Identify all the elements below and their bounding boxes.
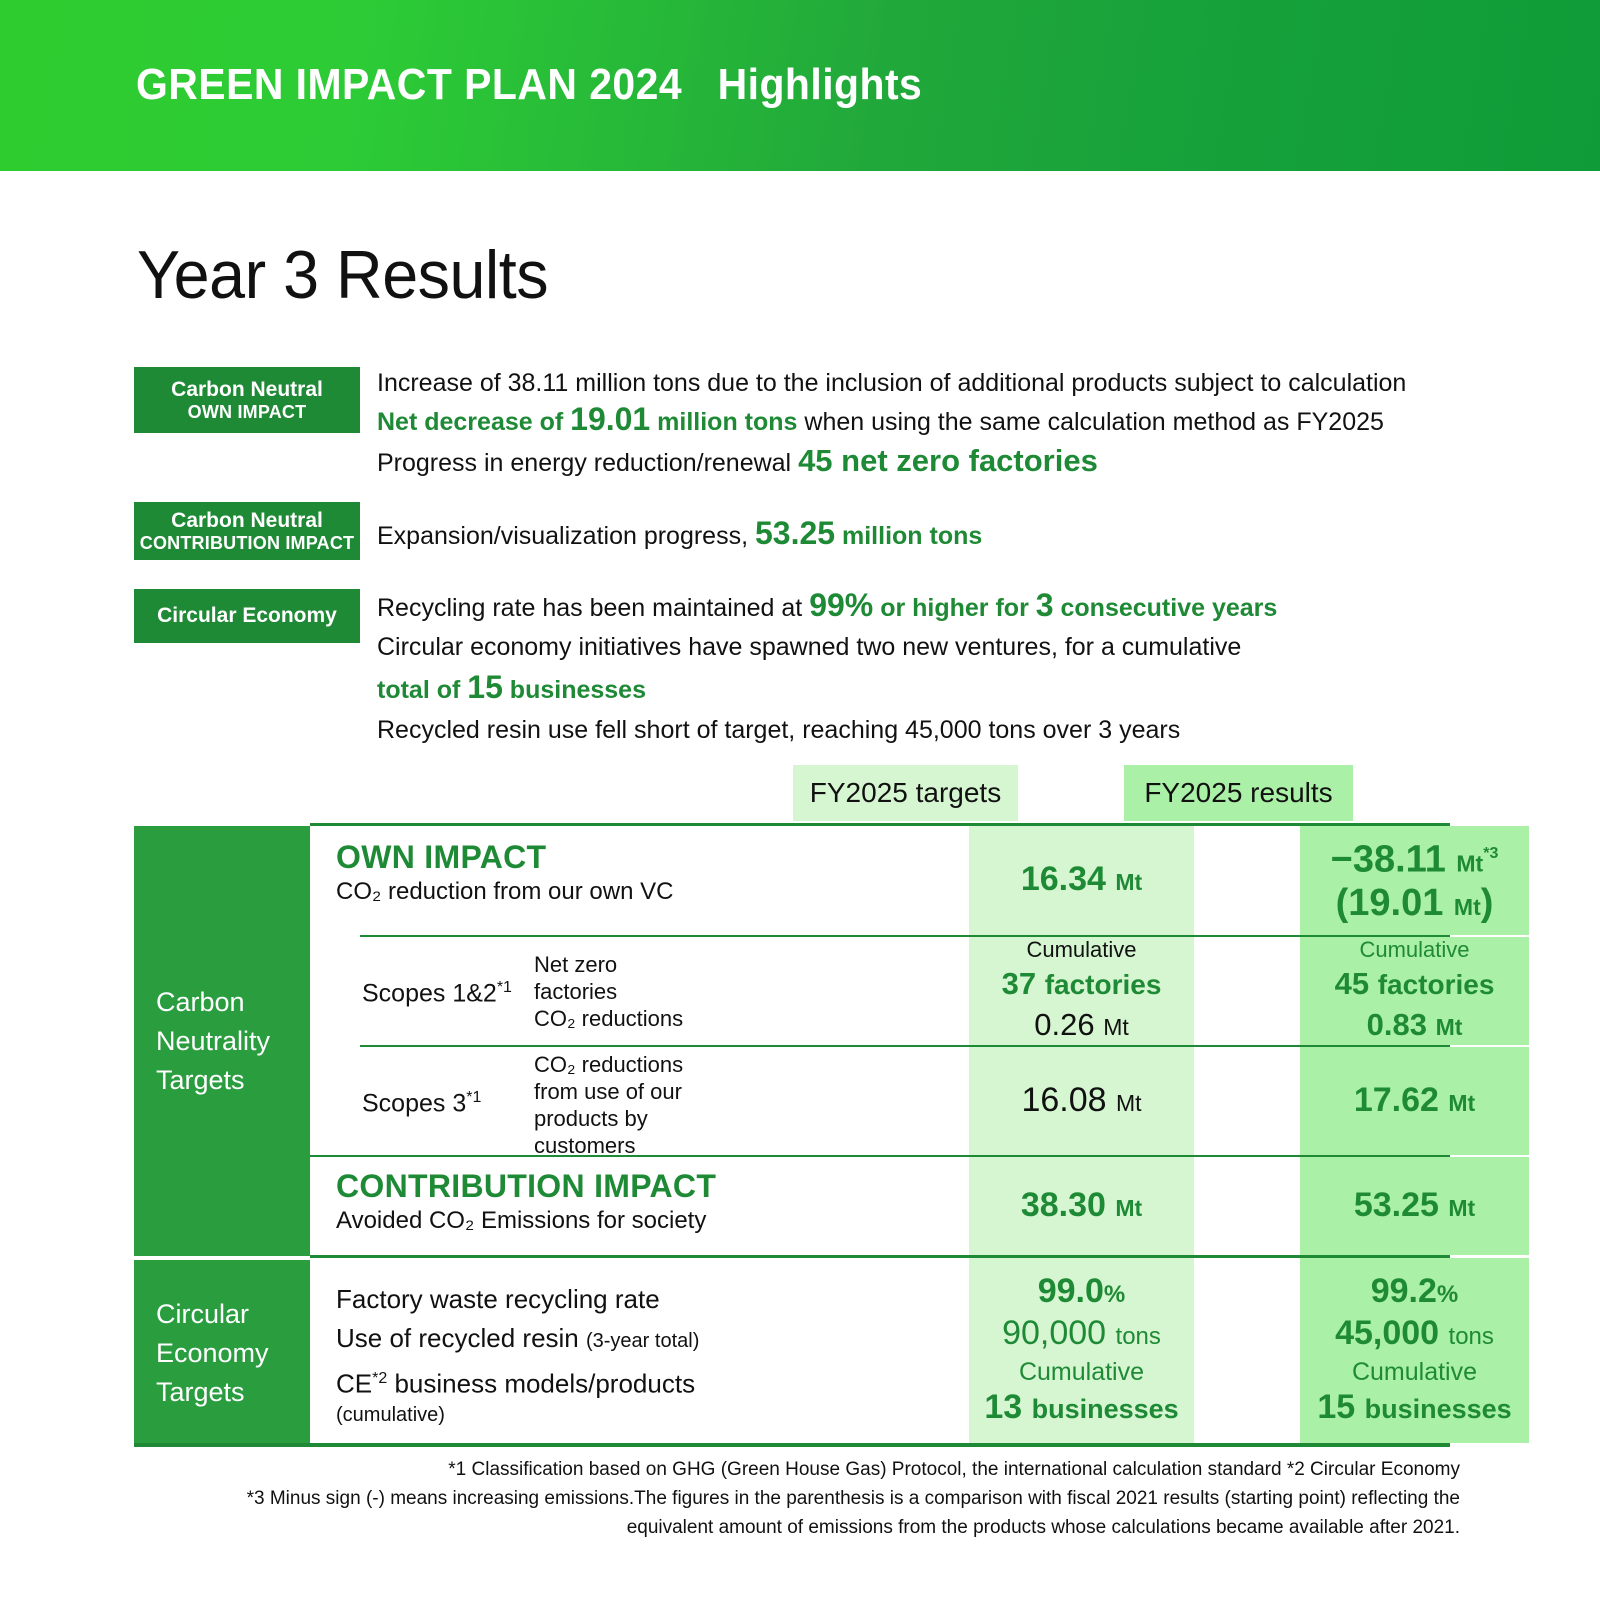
scope-description: Net zero factories CO₂ reductions xyxy=(534,951,683,1032)
value-unit: % xyxy=(1104,1281,1125,1308)
footnote-line-1: *1 Classification based on GHG (Green Ho… xyxy=(140,1455,1460,1484)
highlight-segment: Circular economy initiatives have spawne… xyxy=(377,633,1241,661)
highlight-segment: Recycled resin use fell short of target,… xyxy=(377,716,1180,744)
highlight-segment-number: 3 xyxy=(1036,587,1054,623)
row-label-cell: Scopes 1&2*1 Net zero factories CO₂ redu… xyxy=(310,937,793,1045)
cell-result-circular-economy: 99.2% 45,000 tons Cumulative 15 business… xyxy=(1300,1258,1529,1443)
value-number: 90,000 xyxy=(1002,1314,1106,1352)
page-header-banner: GREEN IMPACT PLAN 2024 Highlights xyxy=(0,0,1600,171)
highlight-segment: total of xyxy=(377,676,467,704)
tag-label-line1: Carbon Neutral xyxy=(171,378,323,402)
value-unit: Mt xyxy=(1448,1195,1475,1221)
category-label: Carbon Neutrality Targets xyxy=(156,983,270,1100)
footnote-line-2: *3 Minus sign (-) means increasing emiss… xyxy=(140,1484,1460,1513)
highlight-segment: Progress in energy reduction/renewal xyxy=(377,449,798,477)
highlight-line: Net decrease of 19.01 million tons when … xyxy=(377,401,1406,440)
value-unit: businesses xyxy=(1365,1394,1512,1424)
value-number: 99.2 xyxy=(1371,1272,1437,1310)
value-number: 17.62 xyxy=(1354,1081,1439,1119)
circular-line-3-main: CE xyxy=(336,1369,372,1399)
circular-line-3-rest: business models/products xyxy=(387,1369,695,1399)
circular-line-4: (cumulative) xyxy=(336,1402,793,1428)
cumulative-label: Cumulative xyxy=(1026,936,1136,964)
cell-value-businesses: 13 businesses xyxy=(984,1388,1178,1429)
cell-value-secondary: 0.83 Mt xyxy=(1367,1005,1463,1047)
circular-line-2-main: Use of recycled resin xyxy=(336,1323,586,1353)
highlight-segment-number: 45 net zero factories xyxy=(798,443,1098,478)
cell-value: 53.25 Mt xyxy=(1354,1185,1475,1228)
value-unit: factories xyxy=(1045,969,1162,1000)
cell-value-recycling-rate: 99.2% xyxy=(1371,1272,1459,1314)
table-category-carbon-neutrality: Carbon Neutrality Targets xyxy=(134,826,310,1256)
cell-target-scopes-1-2: Cumulative 37 factories 0.26 Mt xyxy=(969,937,1194,1045)
highlight-segment-number: 53.25 xyxy=(755,515,835,551)
cell-value: 45 factories xyxy=(1335,964,1495,1005)
highlight-segment-number: 99% xyxy=(809,587,873,623)
highlight-line: Circular economy initiatives have spawne… xyxy=(377,627,1277,667)
footnote-marker: *2 xyxy=(372,1370,387,1387)
cell-value-resin: 90,000 tons xyxy=(1002,1314,1161,1356)
highlight-segment: consecutive years xyxy=(1054,594,1278,622)
cell-value: 16.34 Mt xyxy=(1021,859,1142,902)
cumulative-label: Cumulative xyxy=(1019,1356,1144,1388)
value-number: −38.11 xyxy=(1331,838,1446,880)
page-title: Year 3 Results xyxy=(137,236,548,314)
value-unit: tons xyxy=(1449,1323,1494,1350)
table-category-circular-economy: Circular Economy Targets xyxy=(134,1260,310,1446)
tag-label-line1: Carbon Neutral xyxy=(171,509,323,533)
value-number: 45 xyxy=(1335,966,1369,1001)
table-row-scopes-3: Scopes 3*1 CO₂ reductions from use of ou… xyxy=(310,1047,1450,1155)
circular-line-3: CE*2 business models/products xyxy=(336,1361,793,1402)
value-unit: factories xyxy=(1378,969,1495,1000)
highlight-text-circular-economy: Recycling rate has been maintained at 99… xyxy=(377,586,1277,750)
circular-line-2-note: (3-year total) xyxy=(586,1330,699,1352)
highlight-segment: when using the same calculation method a… xyxy=(797,408,1383,436)
table-row-contribution-impact: CONTRIBUTION IMPACT Avoided CO₂ Emission… xyxy=(310,1157,1450,1255)
highlight-segment-number: 15 xyxy=(467,669,503,705)
row-label-cell: CONTRIBUTION IMPACT Avoided CO₂ Emission… xyxy=(310,1157,793,1255)
value-number: 16.34 xyxy=(1021,860,1106,898)
highlight-segment: Increase of 38.11 million tons due to th… xyxy=(377,369,1406,397)
value-number: 99.0 xyxy=(1038,1272,1104,1310)
row-label-cell: Scopes 3*1 CO₂ reductions from use of ou… xyxy=(310,1047,793,1155)
highlight-line: Progress in energy reduction/renewal 45 … xyxy=(377,440,1406,484)
highlight-line: Recycling rate has been maintained at 99… xyxy=(377,586,1277,627)
value-number: 0.83 xyxy=(1367,1007,1427,1042)
results-table: Carbon Neutrality Targets Circular Econo… xyxy=(134,823,1450,1446)
cumulative-label: Cumulative xyxy=(1352,1356,1477,1388)
table-row-circular-economy: Factory waste recycling rate Use of recy… xyxy=(310,1258,1450,1443)
value-unit: Mt xyxy=(1116,1090,1142,1116)
row-label-cell: Factory waste recycling rate Use of recy… xyxy=(310,1258,793,1443)
cell-result-own-impact: −38.11 Mt*3 (19.01 Mt) xyxy=(1300,826,1529,935)
cumulative-label: Cumulative xyxy=(1359,936,1469,964)
cell-value-businesses: 15 businesses xyxy=(1317,1388,1511,1429)
value-number: 13 xyxy=(984,1388,1022,1426)
value-number: 45,000 xyxy=(1335,1314,1439,1352)
scope-name: Scopes 1&2*1 xyxy=(362,979,512,1008)
highlight-segment: Expansion/visualization progress, xyxy=(377,522,755,550)
scope-description: CO₂ reductions from use of our products … xyxy=(534,1051,683,1159)
footnote-marker: *3 xyxy=(1483,845,1498,862)
value-unit: Mt xyxy=(1436,1014,1463,1040)
value-paren-close: ) xyxy=(1481,882,1494,924)
row-subtitle: Avoided CO₂ Emissions for society xyxy=(336,1205,793,1237)
cell-value: 38.30 Mt xyxy=(1021,1185,1142,1228)
highlight-line: Recycled resin use fell short of target,… xyxy=(377,710,1277,750)
cell-result-scopes-1-2: Cumulative 45 factories 0.83 Mt xyxy=(1300,937,1529,1045)
value-unit: Mt xyxy=(1448,1090,1475,1116)
value-unit: tons xyxy=(1116,1323,1161,1350)
cell-value-secondary: 0.26 Mt xyxy=(1034,1005,1129,1047)
cell-value: 17.62 Mt xyxy=(1354,1080,1475,1123)
footnote-marker: *1 xyxy=(497,979,512,996)
cell-value: 16.08 Mt xyxy=(1021,1080,1141,1123)
cell-value: 37 factories xyxy=(1002,964,1162,1005)
value-unit: Mt xyxy=(1103,1014,1129,1040)
tag-label-line2: CONTRIBUTION IMPACT xyxy=(140,533,354,554)
cell-target-circular-economy: 99.0% 90,000 tons Cumulative 13 business… xyxy=(969,1258,1194,1443)
column-header-fy2025-results: FY2025 results xyxy=(1124,765,1353,821)
value-number: (19.01 xyxy=(1336,882,1444,924)
highlight-segment: million tons xyxy=(650,408,797,436)
value-number: 37 xyxy=(1002,966,1036,1001)
table-rule xyxy=(134,1443,1450,1447)
highlight-text-contribution-impact: Expansion/visualization progress, 53.25 … xyxy=(377,515,982,554)
footnote-line-3: equivalent amount of emissions from the … xyxy=(140,1513,1460,1542)
value-number: 0.26 xyxy=(1034,1007,1094,1042)
cell-target-contribution-impact: 38.30 Mt xyxy=(969,1157,1194,1255)
scope-name-text: Scopes 1&2 xyxy=(362,979,497,1007)
circular-line-1: Factory waste recycling rate xyxy=(336,1280,793,1319)
scope-name: Scopes 3*1 xyxy=(362,1089,481,1118)
cell-value-resin: 45,000 tons xyxy=(1335,1314,1494,1356)
cell-value-secondary: (19.01 Mt) xyxy=(1336,883,1494,927)
highlight-tag-own-impact: Carbon Neutral OWN IMPACT xyxy=(134,367,360,433)
cell-value-recycling-rate: 99.0% xyxy=(1038,1272,1126,1314)
value-number: 16.08 xyxy=(1021,1081,1106,1119)
category-label: Circular Economy Targets xyxy=(156,1295,269,1412)
row-label-cell: OWN IMPACT CO₂ reduction from our own VC xyxy=(310,826,793,935)
highlight-line: total of 15 businesses xyxy=(377,667,1277,710)
value-number: 38.30 xyxy=(1021,1186,1106,1224)
footnote-marker: *1 xyxy=(466,1089,481,1106)
highlight-segment: million tons xyxy=(835,522,982,550)
table-row-own-impact: OWN IMPACT CO₂ reduction from our own VC… xyxy=(310,826,1450,935)
table-row-scopes-1-2: Scopes 1&2*1 Net zero factories CO₂ redu… xyxy=(310,937,1450,1045)
highlight-segment-number: 19.01 xyxy=(570,401,650,437)
cell-target-scopes-3: 16.08 Mt xyxy=(969,1047,1194,1155)
value-unit: Mt xyxy=(1456,850,1483,876)
value-unit: % xyxy=(1437,1281,1458,1308)
value-unit: businesses xyxy=(1032,1394,1179,1424)
scope-name-text: Scopes 3 xyxy=(362,1089,466,1117)
footnotes: *1 Classification based on GHG (Green Ho… xyxy=(140,1455,1460,1542)
column-header-fy2025-targets: FY2025 targets xyxy=(793,765,1018,821)
cell-value: −38.11 Mt*3 xyxy=(1331,834,1499,884)
row-subtitle: CO₂ reduction from our own VC xyxy=(336,876,793,908)
highlight-segment: businesses xyxy=(503,676,646,704)
value-number: 15 xyxy=(1317,1388,1355,1426)
cell-result-contribution-impact: 53.25 Mt xyxy=(1300,1157,1529,1255)
highlight-segment: Net decrease of xyxy=(377,408,570,436)
value-unit: Mt xyxy=(1115,869,1142,895)
highlight-segment: Recycling rate has been maintained at xyxy=(377,594,809,622)
highlight-line: Expansion/visualization progress, 53.25 … xyxy=(377,515,982,554)
cell-result-scopes-3: 17.62 Mt xyxy=(1300,1047,1529,1155)
value-unit: Mt xyxy=(1454,894,1481,920)
value-unit: Mt xyxy=(1115,1195,1142,1221)
highlight-text-own-impact: Increase of 38.11 million tons due to th… xyxy=(377,365,1406,484)
highlight-tag-circular-economy: Circular Economy xyxy=(134,589,360,643)
row-title: CONTRIBUTION IMPACT xyxy=(336,1167,793,1205)
banner-title: GREEN IMPACT PLAN 2024 Highlights xyxy=(136,60,922,110)
tag-label-line2: OWN IMPACT xyxy=(188,402,307,423)
tag-label-line1: Circular Economy xyxy=(157,604,337,628)
circular-line-2: Use of recycled resin (3-year total) xyxy=(336,1319,793,1361)
highlight-segment: or higher for xyxy=(873,594,1036,622)
highlight-tag-contribution-impact: Carbon Neutral CONTRIBUTION IMPACT xyxy=(134,502,360,560)
value-number: 53.25 xyxy=(1354,1186,1439,1224)
row-title: OWN IMPACT xyxy=(336,838,793,876)
highlight-line: Increase of 38.11 million tons due to th… xyxy=(377,365,1406,401)
cell-target-own-impact: 16.34 Mt xyxy=(969,826,1194,935)
